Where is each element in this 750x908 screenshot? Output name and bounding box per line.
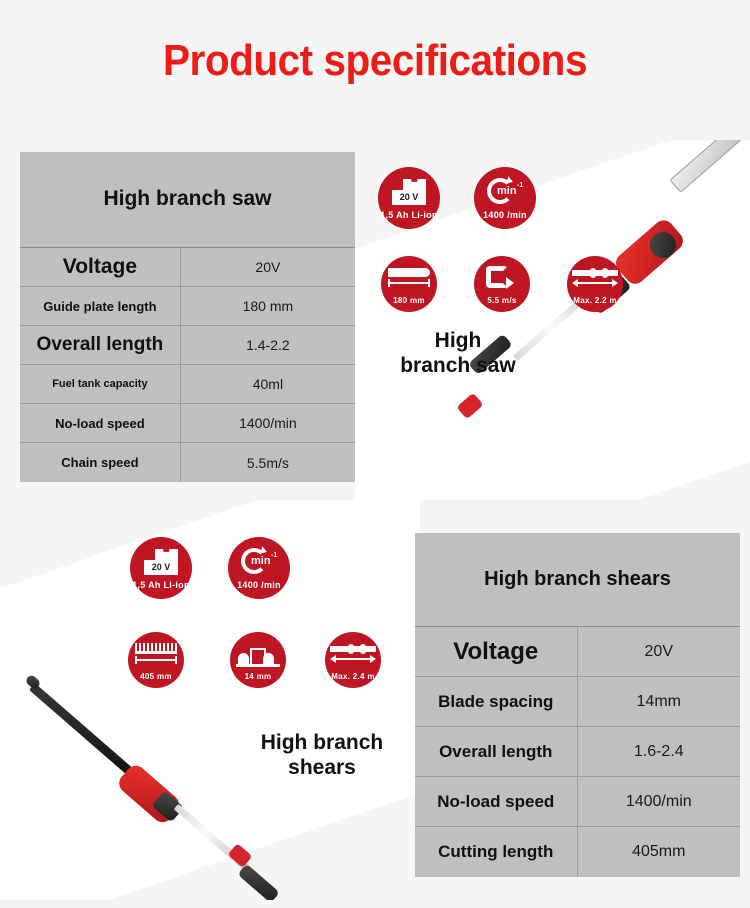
row-label: Overall length	[415, 727, 578, 776]
battery-voltage-text: 20 V	[395, 191, 423, 204]
rpm-icon: min -1	[228, 537, 290, 580]
row-label: Fuel tank capacity	[20, 365, 181, 403]
row-value: 14mm	[578, 677, 741, 726]
badge-caption: 14 mm	[245, 672, 272, 688]
badge-rpm-saw: min -1 1400 /min	[474, 167, 536, 229]
badge-caption: 1400 /min	[237, 580, 281, 599]
table-row: No-load speed 1400/min	[20, 404, 355, 443]
badge-blade-spacing-shears: 14 mm	[230, 632, 286, 688]
row-label: Cutting length	[415, 827, 578, 877]
badge-battery-shears: 20 V 1,5 Ah Li-ion	[130, 537, 192, 599]
table-row: No-load speed 1400/min	[415, 777, 740, 827]
badge-caption: 180 mm	[393, 296, 425, 312]
telescopic-pole-icon	[567, 256, 623, 296]
telescopic-pole-icon	[325, 632, 381, 672]
row-label: Chain speed	[20, 443, 181, 482]
row-value: 405mm	[578, 827, 741, 877]
chain-speed-icon	[474, 256, 530, 296]
badge-reach-shears: Max. 2.4 m	[325, 632, 381, 688]
guide-bar-icon	[381, 256, 437, 296]
shears-product-label: High branch shears	[232, 730, 412, 780]
table-row: Cutting length 405mm	[415, 827, 740, 877]
badge-chain-speed-saw: 5.5 m/s	[474, 256, 530, 312]
battery-icon: 20 V	[378, 167, 440, 210]
rpm-icon: min -1	[474, 167, 536, 210]
rpm-exponent-text: -1	[517, 182, 523, 189]
table-row: Blade spacing 14mm	[415, 677, 740, 727]
row-value: 20V	[578, 627, 741, 676]
row-value: 20V	[181, 248, 355, 286]
row-label: Guide plate length	[20, 287, 181, 325]
table-row: Fuel tank capacity 40ml	[20, 365, 355, 404]
rpm-exponent-text: -1	[271, 552, 277, 559]
hedge-spacing-icon	[230, 632, 286, 672]
badge-caption: Max. 2.4 m	[331, 672, 374, 688]
badge-reach-saw: Max. 2.2 m	[567, 256, 623, 312]
table-row: Guide plate length 180 mm	[20, 287, 355, 326]
shears-photo-panel	[0, 500, 420, 900]
table-row: Overall length 1.4-2.2	[20, 326, 355, 365]
saw-product-label: High branch saw	[368, 328, 548, 378]
row-label: Overall length	[20, 326, 181, 364]
page-title: Product specifications	[30, 36, 720, 86]
row-value: 1.4-2.2	[181, 326, 355, 364]
table-header-shears: High branch shears	[415, 533, 740, 627]
row-label: No-load speed	[415, 777, 578, 826]
row-label: Blade spacing	[415, 677, 578, 726]
table-heading-text: High branch saw	[103, 187, 271, 211]
badge-caption: Max. 2.2 m	[573, 296, 616, 312]
table-header-saw: High branch saw	[20, 152, 355, 248]
badge-caption: 405 mm	[140, 672, 172, 688]
row-value: 1400/min	[181, 404, 355, 442]
battery-icon: 20 V	[130, 537, 192, 580]
row-value: 1.6-2.4	[578, 727, 741, 776]
row-value: 5.5m/s	[181, 443, 355, 482]
rpm-unit-text: min	[251, 555, 271, 567]
table-row: Overall length 1.6-2.4	[415, 727, 740, 777]
badge-caption: 5.5 m/s	[487, 296, 516, 312]
rpm-unit-text: min	[497, 185, 517, 197]
badge-battery-saw: 20 V 1,5 Ah Li-ion	[378, 167, 440, 229]
row-label: No-load speed	[20, 404, 181, 442]
badge-caption: 1400 /min	[483, 210, 527, 229]
table-heading-text: High branch shears	[484, 568, 671, 591]
badge-rpm-shears: min -1 1400 /min	[228, 537, 290, 599]
row-value: 1400/min	[578, 777, 741, 826]
table-row: Chain speed 5.5m/s	[20, 443, 355, 482]
badge-guide-bar-saw: 180 mm	[381, 256, 437, 312]
table-row: Voltage 20V	[415, 627, 740, 677]
row-value: 40ml	[181, 365, 355, 403]
saw-spec-table: High branch saw Voltage 20V Guide plate …	[20, 152, 355, 482]
badge-caption: 1,5 Ah Li-ion	[132, 580, 190, 599]
badge-caption: 1,5 Ah Li-ion	[380, 210, 438, 229]
blade-length-icon	[128, 632, 184, 672]
row-label: Voltage	[415, 627, 578, 676]
badge-blade-length-shears: 405 mm	[128, 632, 184, 688]
row-value: 180 mm	[181, 287, 355, 325]
table-row: Voltage 20V	[20, 248, 355, 287]
row-label: Voltage	[20, 248, 181, 286]
battery-voltage-text: 20 V	[147, 561, 175, 574]
shears-spec-table: High branch shears Voltage 20V Blade spa…	[415, 533, 740, 877]
